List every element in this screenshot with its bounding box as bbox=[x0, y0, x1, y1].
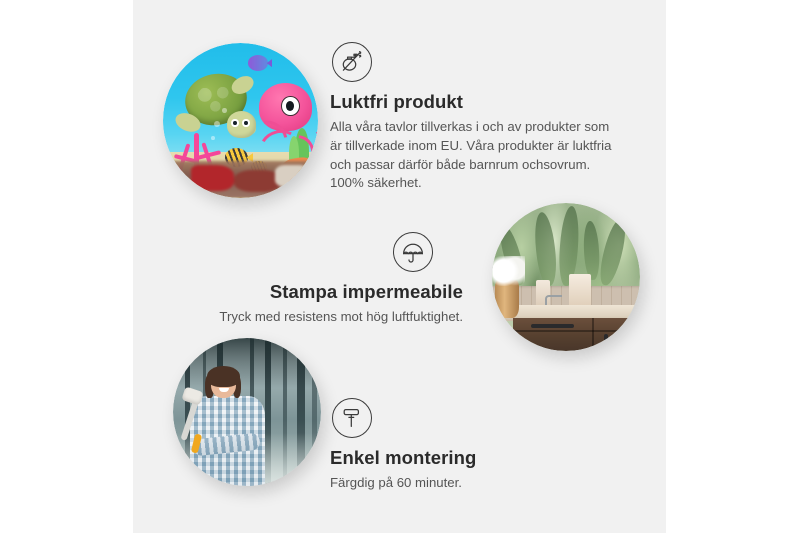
umbrella-icon bbox=[393, 232, 433, 272]
feature-description: Alla våra tavlor tillverkas i och av pro… bbox=[330, 118, 622, 193]
painter-figure bbox=[185, 368, 271, 486]
icon-wrap-waterproof bbox=[185, 232, 463, 272]
feature-description: Färgdig på 60 minuter. bbox=[330, 474, 600, 493]
photo-bathroom bbox=[492, 203, 640, 351]
no-fragrance-spray-bottle-icon bbox=[332, 42, 372, 82]
photo-underwater bbox=[163, 43, 318, 198]
feature-easy-mount: Enkel montering Färgdig på 60 minuter. bbox=[330, 398, 600, 493]
icon-wrap-easy-mount bbox=[330, 398, 600, 438]
icon-wrap-odourless bbox=[330, 42, 622, 82]
paint-roller-icon bbox=[332, 398, 372, 438]
feature-waterproof: Stampa impermeabile Tryck med resistens … bbox=[185, 232, 463, 327]
photo-painter-forest bbox=[173, 338, 321, 486]
feature-title: Stampa impermeabile bbox=[185, 281, 463, 303]
feature-odourless: Luktfri produkt Alla våra tavlor tillver… bbox=[330, 42, 622, 193]
feature-title: Luktfri produkt bbox=[330, 91, 622, 113]
feature-title: Enkel montering bbox=[330, 447, 600, 469]
feature-description: Tryck med resistens mot hög luftfuktighe… bbox=[185, 308, 463, 327]
infographic-canvas: Luktfri produkt Alla våra tavlor tillver… bbox=[0, 0, 800, 533]
